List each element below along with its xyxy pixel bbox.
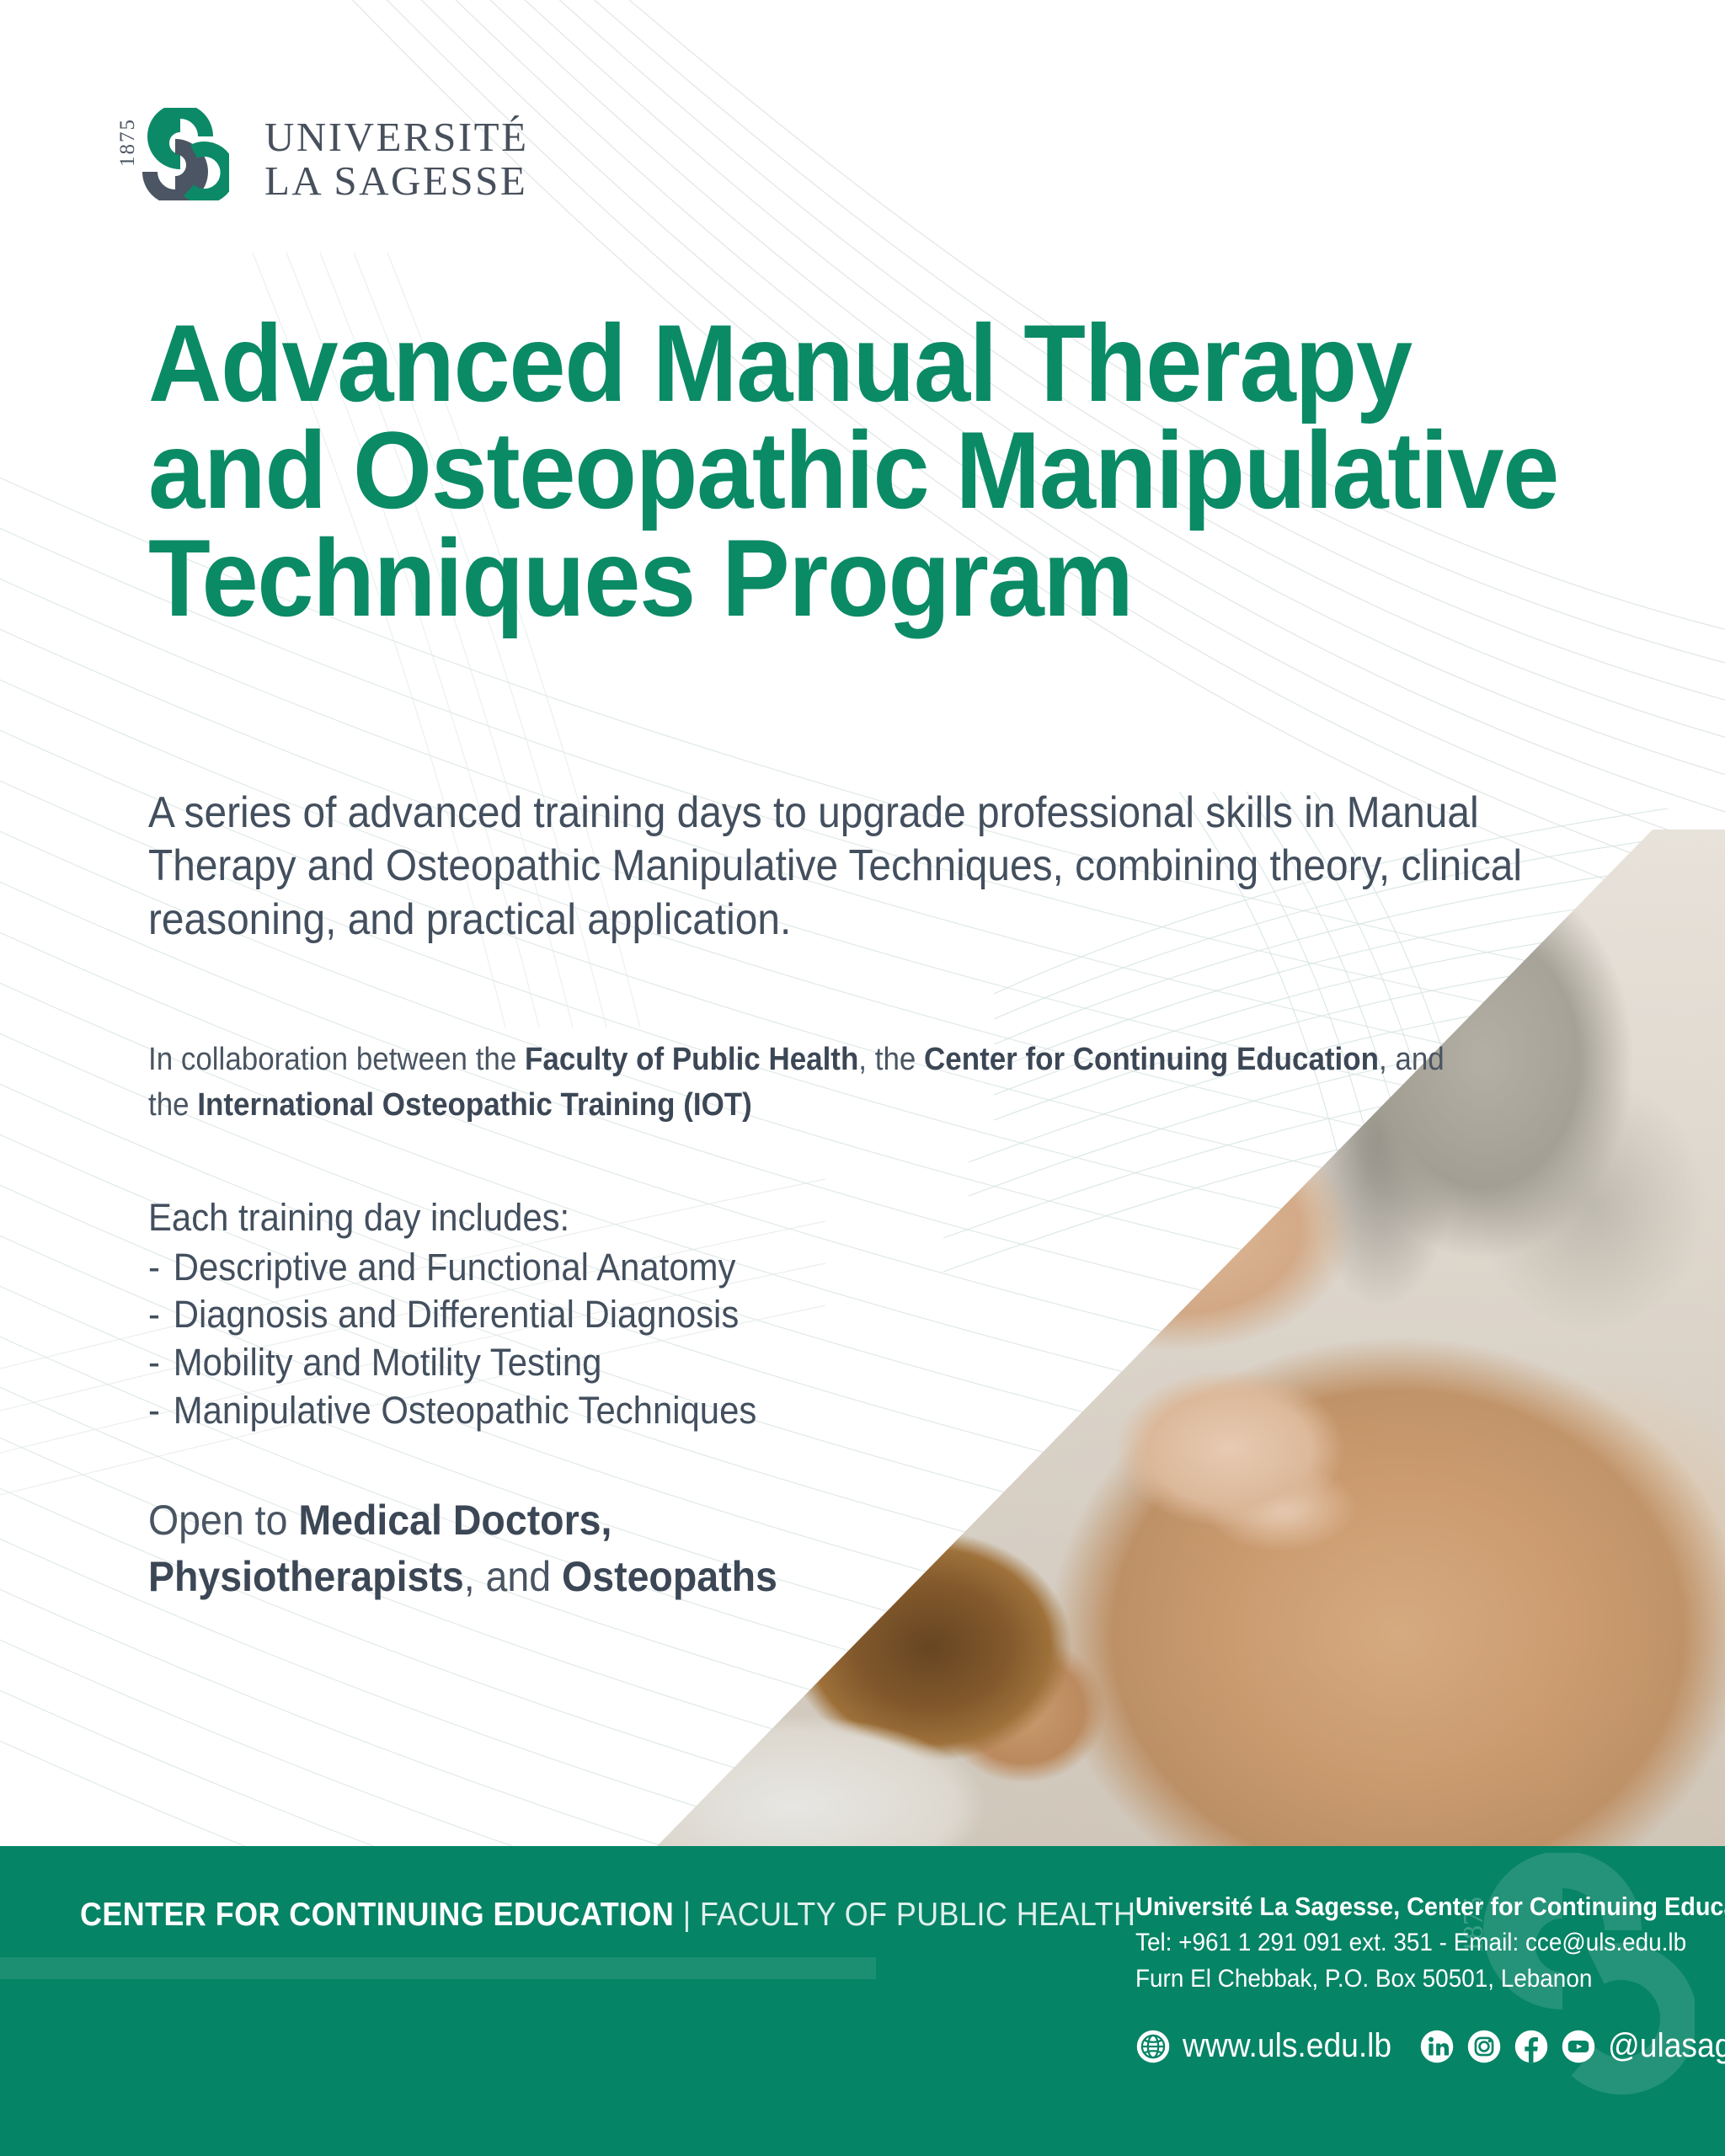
collab-iot: International Osteopathic Training (IOT) [197, 1087, 751, 1123]
page-title-line1: Advanced Manual Therapy [148, 310, 1558, 417]
program-summary-line3: reasoning, and practical application. [148, 894, 1473, 947]
logo-wordmark-line2: LA SAGESSE [264, 159, 529, 203]
footer-contact-block: Université La Sagesse, Center for Contin… [1135, 1888, 1725, 1997]
facebook-icon[interactable] [1514, 2029, 1549, 2064]
audience-prefix: Open to [148, 1497, 298, 1544]
sagesse-spiral-icon [128, 108, 229, 200]
bullet-dash: - [148, 1339, 174, 1387]
footer-faculty-name: FACULTY OF PUBLIC HEALTH [700, 1897, 1135, 1933]
bullet-dash: - [148, 1244, 174, 1292]
page-title-line3: Techniques Program [148, 525, 1558, 632]
collab-sep1: , the [858, 1042, 924, 1077]
collaboration-statement: In collaboration between the Faculty of … [148, 1038, 1403, 1129]
collab-faculty: Faculty of Public Health [525, 1042, 858, 1077]
footer-website-link[interactable]: www.uls.edu.lb [1183, 2027, 1391, 2065]
list-item-label: Mobility and Motility Testing [174, 1341, 602, 1384]
footer-org-name: Université La Sagesse, Center for Contin… [1135, 1888, 1725, 1925]
program-summary: A series of advanced training days to up… [148, 787, 1473, 947]
collab-prefix: In collaboration between the [148, 1042, 525, 1077]
logo-wordmark-line1: UNIVERSITÉ [264, 115, 529, 159]
footer: 1875 CENTER FOR CONTINUING EDUCATION | F… [0, 1846, 1725, 2156]
collab-the: the [148, 1087, 197, 1123]
bullet-dash: - [148, 1387, 174, 1435]
logo-wordmark: UNIVERSITÉ LA SAGESSE [264, 115, 529, 204]
audience-line1: Open to Medical Doctors, [148, 1492, 777, 1549]
list-item: -Mobility and Motility Testing [148, 1339, 756, 1387]
logo-mark-icon: 1875 [128, 108, 246, 211]
footer-tel-email: Tel: +961 1 291 091 ext. 351 - Email: cc… [1135, 1925, 1725, 1961]
page-title-line2: and Osteopathic Manipulative [148, 417, 1558, 524]
collab-sep2: , and [1379, 1042, 1445, 1077]
footer-social-handle[interactable]: @ulasagesse [1608, 2027, 1725, 2065]
audience-physio: Physiotherapists [148, 1553, 464, 1600]
instagram-icon[interactable] [1466, 2029, 1502, 2064]
footer-department-line: CENTER FOR CONTINUING EDUCATION | FACULT… [80, 1897, 1135, 1934]
list-item-label: Descriptive and Functional Anatomy [174, 1246, 736, 1289]
audience-osteo: Osteopaths [562, 1553, 777, 1600]
audience-sep: , and [464, 1553, 562, 1600]
bullet-dash: - [148, 1291, 174, 1339]
list-item: -Manipulative Osteopathic Techniques [148, 1387, 756, 1435]
collab-center: Center for Continuing Education [924, 1042, 1379, 1077]
list-item-label: Diagnosis and Differential Diagnosis [174, 1293, 740, 1336]
program-summary-line2: Therapy and Osteopathic Manipulative Tec… [148, 840, 1473, 893]
footer-center-name: CENTER FOR CONTINUING EDUCATION [80, 1897, 674, 1933]
training-includes-list: -Descriptive and Functional Anatomy -Dia… [148, 1244, 756, 1435]
training-includes: Each training day includes: -Descriptive… [148, 1194, 756, 1434]
training-includes-heading: Each training day includes: [148, 1194, 756, 1242]
list-item: -Descriptive and Functional Anatomy [148, 1244, 756, 1292]
list-item-label: Manipulative Osteopathic Techniques [174, 1389, 757, 1432]
list-item: -Diagnosis and Differential Diagnosis [148, 1291, 756, 1339]
page-title: Advanced Manual Therapy and Osteopathic … [148, 310, 1558, 632]
poster-root: 1875 UNIVERSITÉ LA SAGESSE Advanced Manu… [0, 0, 1725, 2156]
audience-statement: Open to Medical Doctors, Physiotherapist… [148, 1492, 777, 1604]
footer-divider [0, 1957, 876, 1979]
youtube-icon[interactable] [1561, 2029, 1596, 2064]
logo-year-label: 1875 [116, 118, 140, 167]
footer-separator: | [674, 1897, 700, 1933]
globe-icon[interactable] [1135, 2029, 1171, 2064]
collaboration-line2: the International Osteopathic Training (… [148, 1083, 1403, 1129]
footer-address: Furn El Chebbak, P.O. Box 50501, Lebanon [1135, 1961, 1725, 1998]
collaboration-line1: In collaboration between the Faculty of … [148, 1038, 1403, 1083]
audience-line2: Physiotherapists, and Osteopaths [148, 1549, 777, 1605]
audience-md: Medical Doctors, [298, 1497, 611, 1544]
program-summary-line1: A series of advanced training days to up… [148, 787, 1473, 840]
footer-social-row: www.uls.edu.lb @ulasag [1135, 2027, 1725, 2065]
university-logo: 1875 UNIVERSITÉ LA SAGESSE [128, 108, 529, 211]
linkedin-icon[interactable] [1419, 2029, 1455, 2064]
